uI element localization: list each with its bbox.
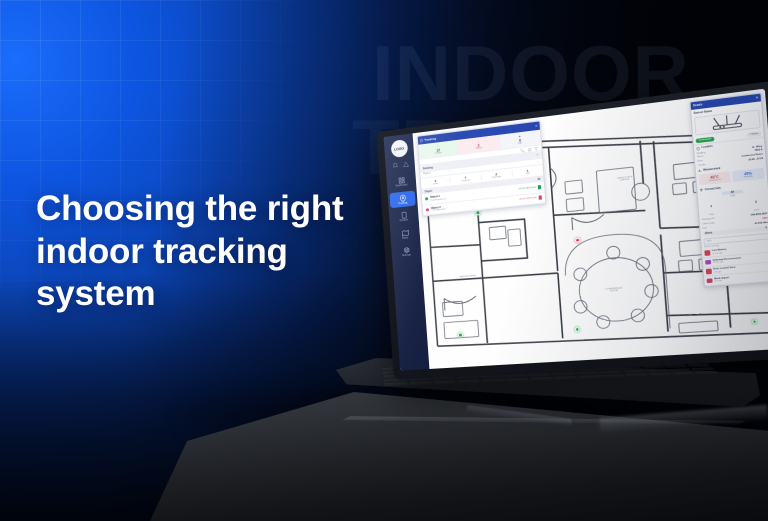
edit-icon[interactable] [527,147,531,152]
detail-key: Dist [703,227,707,230]
alerts-title: Alerts [705,232,713,235]
location-pin-icon [420,139,423,142]
tracking-marker[interactable] [458,332,463,337]
metric-temperature: 48°C Temperature [698,172,730,185]
device-icon [400,211,407,219]
app-main-canvas: DIRECTOR'S OFFICE CONFERENCE ROOM WAITIN… [413,89,768,369]
poster-stage: INDOOR TRACKIN [0,0,768,521]
chevron-up-icon: ⌃ [536,154,538,157]
sidebar-item-dashboard[interactable]: Dashboard [388,173,414,191]
close-icon[interactable]: ✕ [535,124,538,128]
notification-bell-icon[interactable] [392,162,398,169]
metric-humidity: 45% Humidity [732,168,765,182]
location-pin-icon [399,194,406,202]
map-icon [401,229,408,237]
sidebar-item-settings[interactable]: Settings [393,243,419,261]
tracking-panel-title: Tracking [424,137,436,141]
alert-text: Weak Signal 3 hr ago [714,273,768,282]
alerts-filter-label: Type [706,240,711,243]
sidebar-label: Settings [402,254,411,257]
app-screen: LOGO Dashboard Track [384,89,768,371]
chevron-down-icon: ⌄ [537,160,539,163]
headline-line-3: system [36,273,366,316]
sidebar-label: Devices [400,219,409,222]
lock-icon [706,269,712,274]
gear-icon [403,246,410,254]
sidebar-label: Dashboard [396,184,408,187]
battery-low-icon [704,250,710,255]
alerts-count: 4 [765,228,767,230]
close-icon[interactable]: ✕ [756,96,759,100]
tracking-panel: Tracking ✕ ↑ 12 Online [417,120,547,216]
objects-count: 23 [537,177,540,180]
laptop-device: LOGO Dashboard Track [330,130,768,430]
laptop-lid: LOGO Dashboard Track [376,81,768,380]
laptop-trackpad [466,405,572,427]
gateway-icon [705,260,711,265]
laptop-screen-bezel: LOGO Dashboard Track [384,89,768,371]
sidebar-label: Plans [402,237,408,240]
units-badge: 7 Units [747,131,761,137]
conn-rssi: 87 RSSI [722,190,744,214]
conn-hops: 4 Hops [700,192,722,216]
app-logo[interactable]: LOGO [390,139,408,158]
filter-icon[interactable] [534,147,539,152]
floor-label: Floor 1 [423,173,430,177]
alert-icon[interactable] [402,161,408,168]
chevron-down-icon: ⌄ [764,235,766,237]
conn-links: 2 Links [745,188,768,212]
headline-line-1: Choosing the right [36,188,366,231]
grid-icon [398,177,405,185]
tracking-panel-title-group: Tracking [420,137,436,142]
page-title: Choosing the right indoor tracking syste… [36,188,366,316]
conn-value: 2 [755,201,757,204]
objects-title: Object [425,189,433,193]
router-antenna-icon [706,112,749,132]
sidebar-label: Tracking [398,202,407,205]
object-distance: 41.2 ft / 03:11 min [519,197,536,201]
status-dot-offline [426,208,429,212]
detail-value: 41.902 dbm [755,221,768,224]
status-dot-online [425,197,428,201]
status-badge-connected: Connected [696,137,714,143]
chart-bar-icon [698,169,702,173]
location-pin-icon [696,147,700,151]
conn-value: 4 [710,205,712,208]
details-panel-title: Details [693,103,703,107]
battery-icon [539,195,542,200]
sidebar-top-icons [392,161,409,169]
battery-icon [538,185,541,190]
sidebar-item-plans[interactable]: Plans [392,225,418,243]
sidebar-item-tracking[interactable]: Tracking [389,190,415,208]
building-section-title: Building [423,166,433,170]
phone-icon[interactable] [520,148,524,153]
wifi-icon [700,189,704,193]
sidebar-item-devices[interactable]: Devices [391,208,417,226]
details-panel: Details ✕ Sensor Name [689,92,768,287]
object-distance: 27.5 ft / 08:24 min [518,186,536,190]
signal-icon [707,278,713,283]
headline-line-2: indoor tracking [36,231,366,274]
